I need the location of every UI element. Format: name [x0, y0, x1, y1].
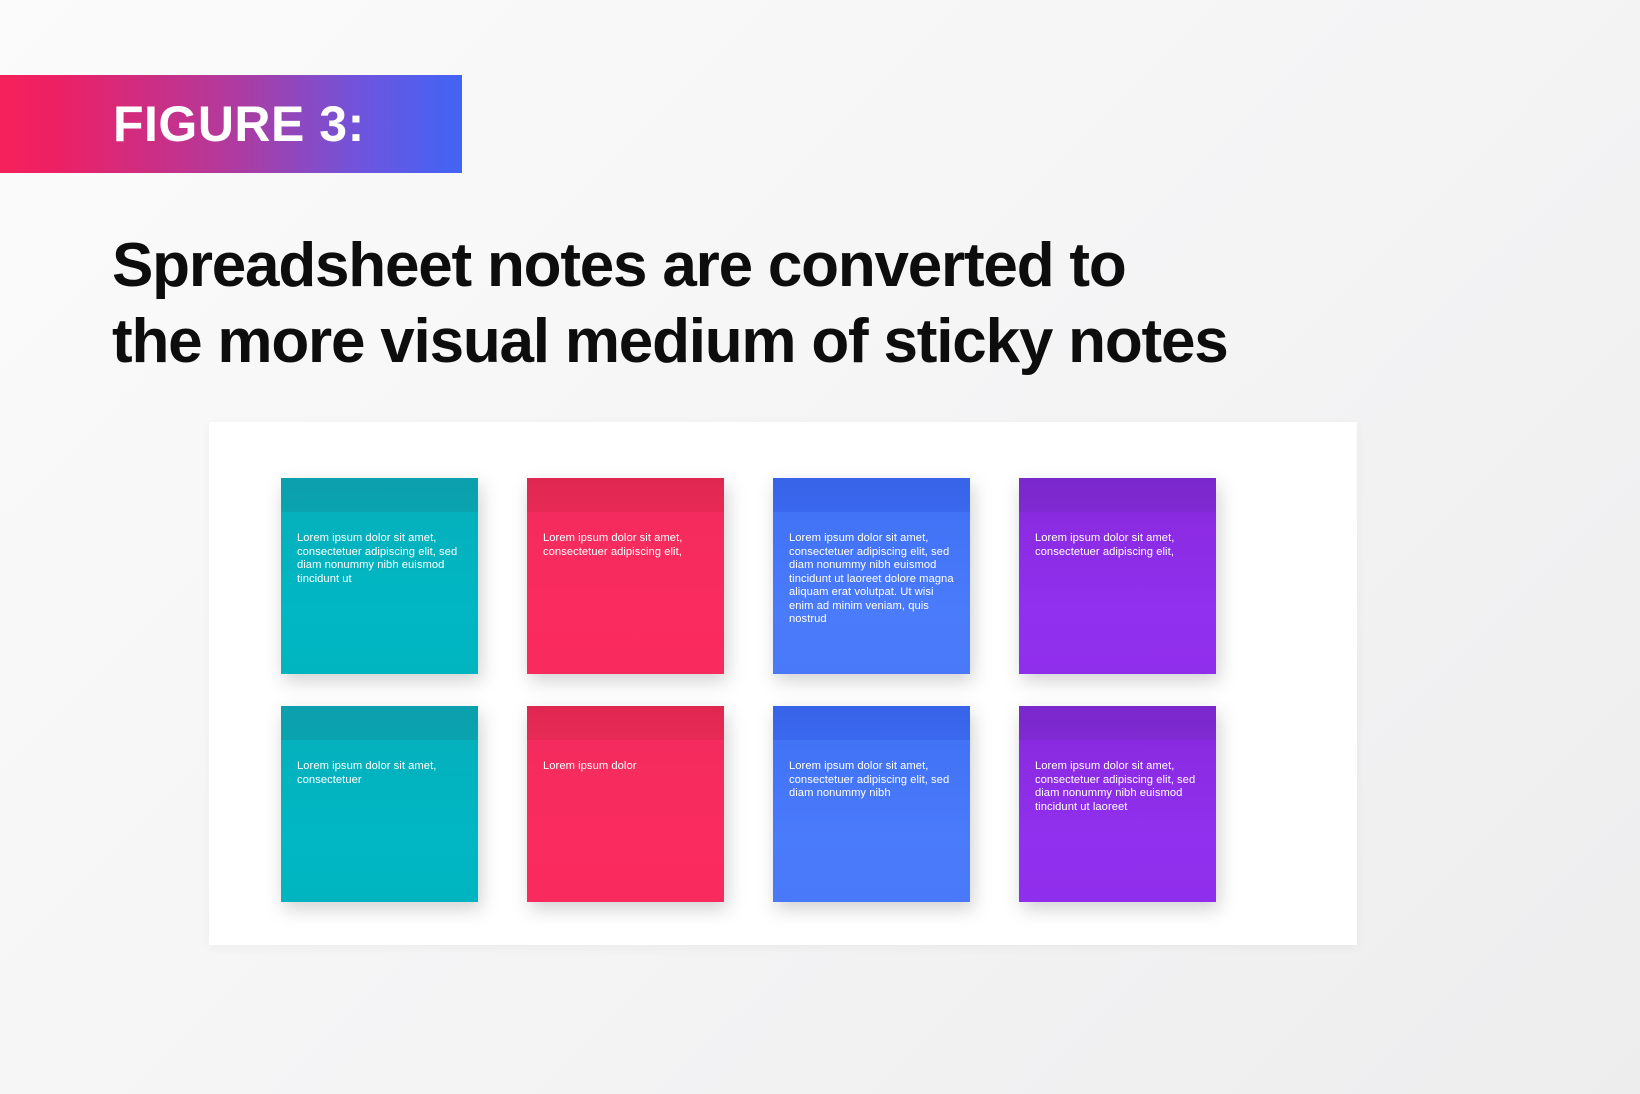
- sticky-note-text: Lorem ipsum dolor sit amet, consectetuer…: [789, 532, 956, 627]
- sticky-note-board: Lorem ipsum dolor sit amet, consectetuer…: [209, 422, 1357, 945]
- figure-badge-label: FIGURE 3:: [0, 95, 365, 153]
- sticky-note[interactable]: Lorem ipsum dolor sit amet, consectetuer…: [281, 478, 478, 674]
- figure-badge: FIGURE 3:: [0, 75, 462, 173]
- sticky-note[interactable]: Lorem ipsum dolor sit amet, consectetuer…: [1019, 478, 1216, 674]
- sticky-note-text: Lorem ipsum dolor sit amet, consectetuer…: [789, 760, 956, 801]
- sticky-note-header-band: [1019, 478, 1216, 512]
- sticky-note-header-band: [527, 706, 724, 740]
- sticky-note-header-band: [1019, 706, 1216, 740]
- sticky-note-text: Lorem ipsum dolor sit amet, consectetuer…: [543, 532, 710, 559]
- sticky-notes-grid: Lorem ipsum dolor sit amet, consectetuer…: [281, 478, 1291, 902]
- page-title-line-2: the more visual medium of sticky notes: [112, 304, 1452, 380]
- sticky-note-header-band: [281, 478, 478, 512]
- page-title-line-1: Spreadsheet notes are converted to: [112, 228, 1452, 304]
- sticky-note-header-band: [527, 478, 724, 512]
- sticky-note-text: Lorem ipsum dolor sit amet, consectetuer…: [1035, 760, 1202, 814]
- sticky-note[interactable]: Lorem ipsum dolor sit amet, consectetuer…: [773, 478, 970, 674]
- sticky-note[interactable]: Lorem ipsum dolor sit amet, consectetuer…: [527, 478, 724, 674]
- sticky-note-text: Lorem ipsum dolor sit amet, consectetuer…: [297, 532, 464, 586]
- sticky-note-header-band: [281, 706, 478, 740]
- sticky-note-text: Lorem ipsum dolor sit amet, consectetuer: [297, 760, 464, 787]
- sticky-note[interactable]: Lorem ipsum dolor sit amet, consectetuer: [281, 706, 478, 902]
- sticky-note-text: Lorem ipsum dolor sit amet, consectetuer…: [1035, 532, 1202, 559]
- sticky-note[interactable]: Lorem ipsum dolor: [527, 706, 724, 902]
- sticky-note-header-band: [773, 706, 970, 740]
- sticky-note-text: Lorem ipsum dolor: [543, 760, 710, 774]
- sticky-note[interactable]: Lorem ipsum dolor sit amet, consectetuer…: [1019, 706, 1216, 902]
- sticky-note[interactable]: Lorem ipsum dolor sit amet, consectetuer…: [773, 706, 970, 902]
- sticky-note-header-band: [773, 478, 970, 512]
- page-title: Spreadsheet notes are converted to the m…: [112, 228, 1452, 380]
